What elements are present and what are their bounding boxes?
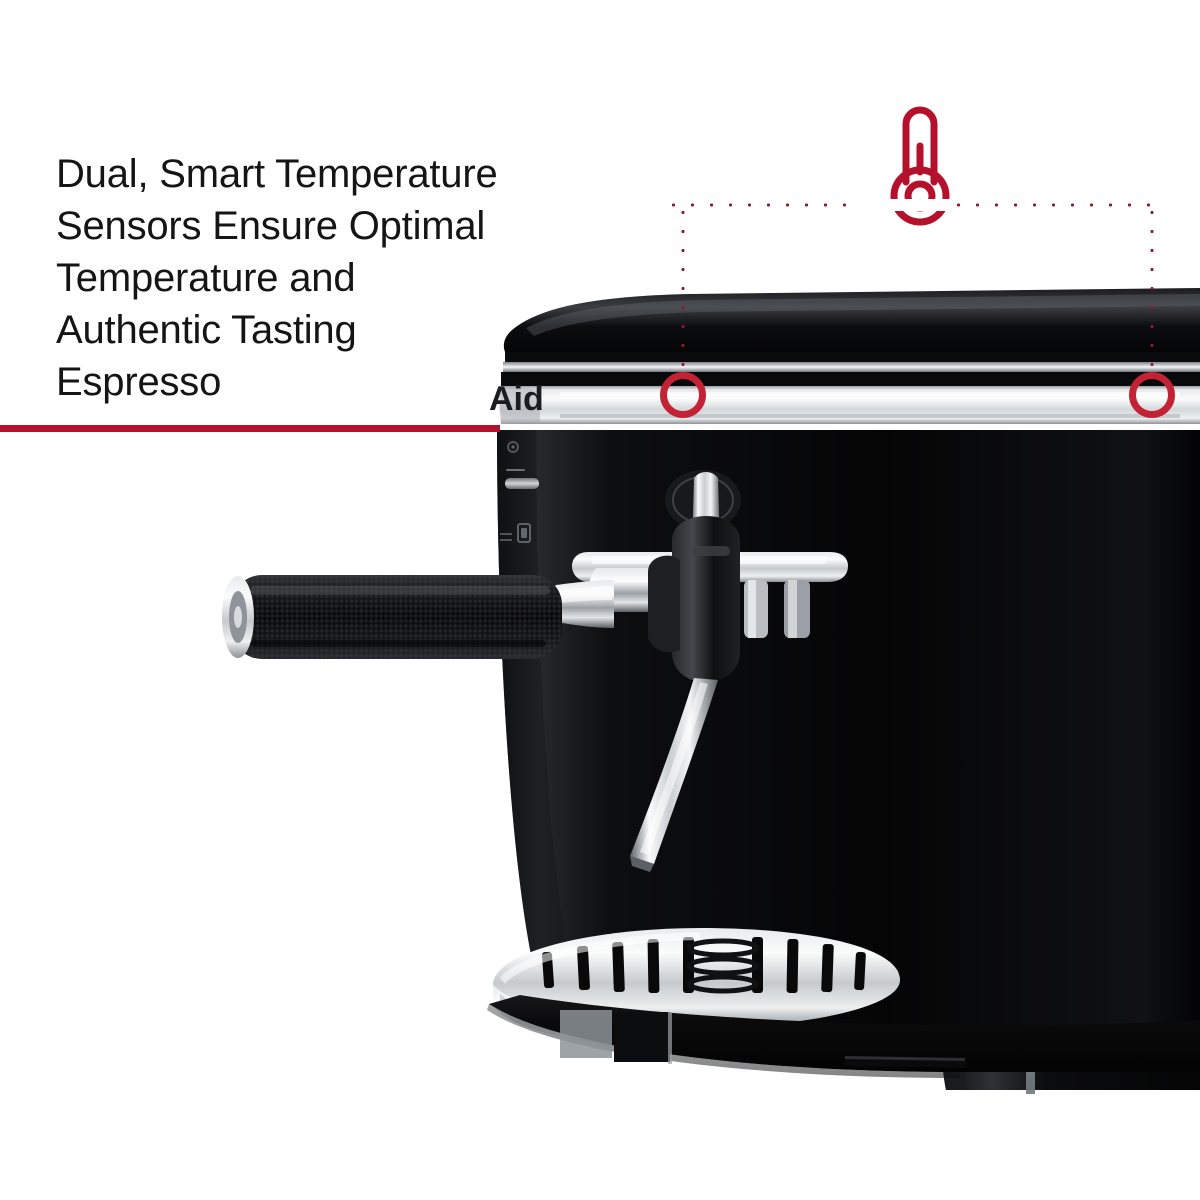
page-title: Dual, Smart Temperature Sensors Ensure O…	[56, 148, 596, 408]
machine-top-shell	[504, 288, 1200, 362]
sensor-marker-right	[1129, 372, 1175, 418]
chrome-pinstripe	[501, 362, 1200, 386]
control-dial	[505, 478, 539, 489]
callout-dotted-line-left	[681, 203, 685, 373]
dotted-line-icon-gap	[860, 199, 956, 211]
sensor-marker-left	[660, 372, 706, 418]
callout-dotted-line-horizontal	[664, 203, 1152, 207]
accent-divider-rule	[0, 425, 500, 432]
callout-dotted-line-right	[1150, 203, 1154, 373]
portafilter-handle	[222, 575, 562, 659]
product-feature-callout: Aid	[0, 0, 1200, 1200]
chrome-accent-band	[499, 386, 1200, 424]
